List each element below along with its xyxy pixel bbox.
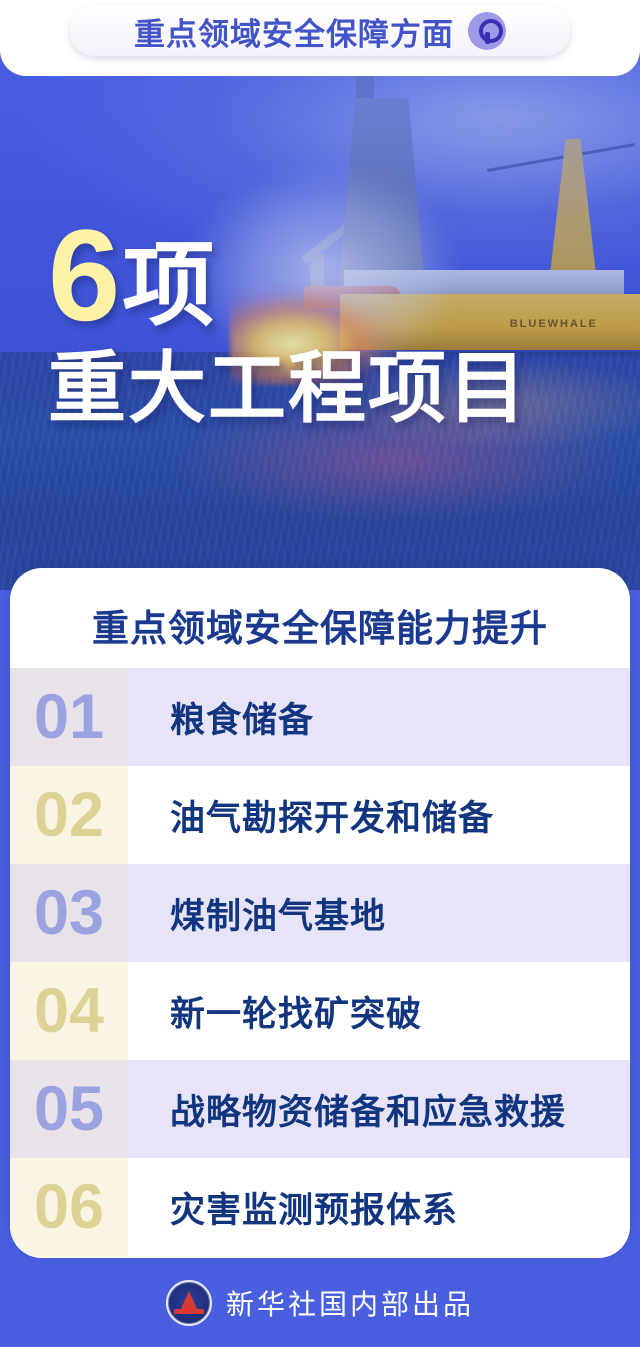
hero-headline: 6 项 重大工程项目 (48, 210, 528, 430)
top-band: 重点领域安全保障方面 (0, 0, 640, 76)
magnifier-key-icon (468, 12, 506, 50)
item-label: 粮食储备 (128, 692, 314, 743)
item-number: 04 (10, 962, 128, 1060)
list-item[interactable]: 02 油气勘探开发和储备 (10, 766, 630, 864)
list-item[interactable]: 06 灾害监测预报体系 (10, 1158, 630, 1256)
item-number: 03 (10, 864, 128, 962)
headline-line-1: 6 项 (48, 210, 528, 340)
list-card: 重点领域安全保障能力提升 01 粮食储备 02 油气勘探开发和储备 03 煤制油… (10, 568, 630, 1258)
headline-number-unit: 项 (122, 240, 214, 332)
item-number: 05 (10, 1060, 128, 1158)
list-item[interactable]: 01 粮食储备 (10, 668, 630, 766)
headline-number: 6 (48, 210, 118, 340)
item-number: 01 (10, 668, 128, 766)
item-label: 油气勘探开发和储备 (128, 790, 494, 841)
item-label: 煤制油气基地 (128, 888, 386, 939)
xinhua-logo-icon (166, 1280, 212, 1326)
card-title: 重点领域安全保障能力提升 (10, 598, 630, 652)
page-title: 重点领域安全保障方面 (134, 9, 454, 54)
list-item[interactable]: 05 战略物资储备和应急救援 (10, 1060, 630, 1158)
footer-credit: 新华社国内部出品 (226, 1283, 474, 1323)
item-label: 战略物资储备和应急救援 (128, 1084, 566, 1135)
footer: 新华社国内部出品 (0, 1258, 640, 1347)
item-number: 02 (10, 766, 128, 864)
list-item[interactable]: 04 新一轮找矿突破 (10, 962, 630, 1060)
poster-root: BLUEWHALE 6 项 重大工程项目 重点领域安全保障方面 重点领域安全保障… (0, 0, 640, 1347)
hero-section: BLUEWHALE 6 项 重大工程项目 (0, 60, 640, 590)
header-pill[interactable]: 重点领域安全保障方面 (70, 6, 570, 56)
headline-subtitle: 重大工程项目 (48, 346, 528, 430)
item-label: 新一轮找矿突破 (128, 986, 422, 1037)
list-item[interactable]: 03 煤制油气基地 (10, 864, 630, 962)
item-number: 06 (10, 1158, 128, 1256)
list-rows: 01 粮食储备 02 油气勘探开发和储备 03 煤制油气基地 04 新一轮找矿突… (10, 668, 630, 1256)
item-label: 灾害监测预报体系 (128, 1182, 458, 1233)
